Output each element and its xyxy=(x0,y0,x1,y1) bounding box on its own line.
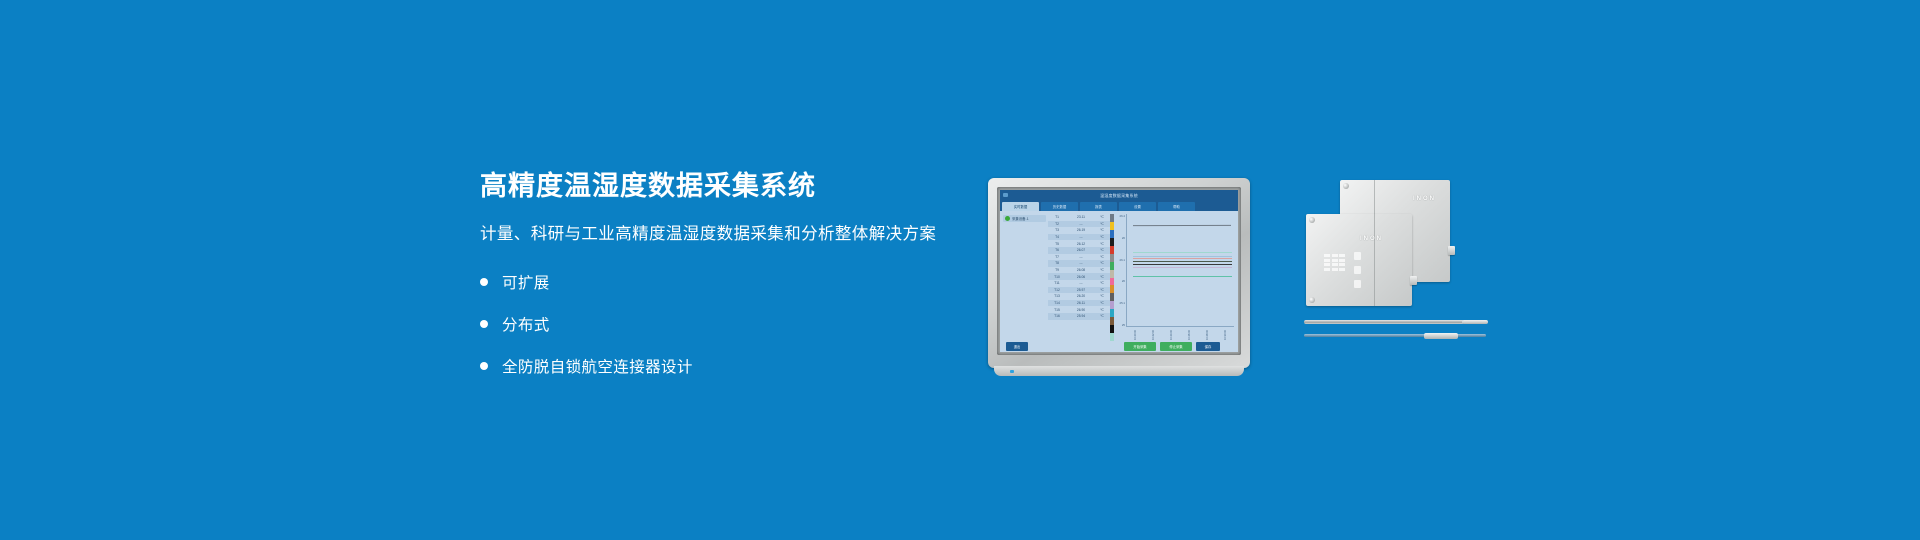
chart-x-axis: 10:20:0010:22:0010:24:0010:26:0010:28:00… xyxy=(1126,327,1234,340)
cell-value: --- xyxy=(1066,235,1096,239)
y-tick-label: 25 xyxy=(1118,323,1125,327)
app-title-bar: 温湿度数据采集系统 xyxy=(1000,190,1238,201)
cell-channel: T6 xyxy=(1048,248,1066,252)
port-icon xyxy=(1354,280,1361,288)
cell-channel: T2 xyxy=(1048,222,1066,226)
probe-tip xyxy=(1462,320,1488,324)
table-row: T3 26.19 ℃ xyxy=(1048,227,1110,234)
table-row: T4 --- ℃ xyxy=(1048,234,1110,241)
temperature-probe-metal xyxy=(1304,320,1464,324)
cell-unit: ℃ xyxy=(1096,275,1108,279)
power-led-icon xyxy=(1010,370,1014,373)
page-title: 高精度温湿度数据采集系统 xyxy=(480,172,950,202)
cell-unit: ℃ xyxy=(1096,215,1108,219)
bullet-dot-icon xyxy=(480,278,488,286)
table-row: T14 26.11 ℃ xyxy=(1048,300,1110,307)
port-icon xyxy=(1354,252,1361,260)
x-tick-label: 10:20:00 xyxy=(1134,327,1137,340)
cell-unit: ℃ xyxy=(1096,261,1108,265)
app-window-title: 温湿度数据采集系统 xyxy=(1100,193,1138,199)
y-tick-label: 26.1 xyxy=(1118,258,1125,262)
cell-channel: T8 xyxy=(1048,261,1066,265)
table-row: T10 26.06 ℃ xyxy=(1048,273,1110,280)
chart-series-line xyxy=(1133,225,1231,226)
table-row: T11 --- ℃ xyxy=(1048,280,1110,287)
cell-unit: ℃ xyxy=(1096,294,1108,298)
feature-list: 可扩展 分布式 全防脱自锁航空连接器设计 xyxy=(480,271,950,377)
cell-value: 25.97 xyxy=(1066,288,1096,292)
bullet-dot-icon xyxy=(480,320,488,328)
chart-plot-area xyxy=(1126,214,1234,327)
brand-logo: INON xyxy=(1413,196,1436,202)
y-tick-label: 26 xyxy=(1118,236,1125,240)
chart-series-line xyxy=(1133,264,1231,265)
stop-capture-button[interactable]: 停止采集 xyxy=(1160,342,1192,351)
cell-unit: ℃ xyxy=(1096,222,1108,226)
cell-channel: T11 xyxy=(1048,281,1066,285)
cell-value: 26.90 xyxy=(1066,308,1096,312)
table-row: T8 --- ℃ xyxy=(1048,260,1110,267)
cell-unit: ℃ xyxy=(1096,255,1108,259)
hero-copy: 高精度温湿度数据采集系统 计量、科研与工业高精度温湿度数据采集和分析整体解决方案… xyxy=(480,172,950,397)
software-screen: 温湿度数据采集系统 实时数据 历史数据 报表 设置 帮助 采集设备-1 xyxy=(1000,190,1238,352)
cell-channel: T9 xyxy=(1048,268,1066,272)
probe-connector xyxy=(1424,333,1458,339)
cell-unit: ℃ xyxy=(1096,228,1108,232)
table-row: T1 23.11 ℃ xyxy=(1048,214,1110,221)
x-tick-label: 10:30:00 xyxy=(1224,327,1227,340)
table-row: T6 26.07 ℃ xyxy=(1048,247,1110,254)
cell-channel: T3 xyxy=(1048,228,1066,232)
start-capture-button[interactable]: 开始采集 xyxy=(1124,342,1156,351)
y-tick-label: 26 xyxy=(1118,279,1125,283)
cell-unit: ℃ xyxy=(1096,288,1108,292)
brand-logo: INON xyxy=(1360,236,1383,242)
y-tick-label: 25.1 xyxy=(1118,301,1125,305)
port-icon xyxy=(1354,266,1361,274)
chart-y-axis: 26.42626.12625.125 xyxy=(1118,214,1125,327)
panel-seam xyxy=(1374,214,1375,306)
table-row: T5 26.12 ℃ xyxy=(1048,240,1110,247)
cell-value: 26.12 xyxy=(1066,242,1096,246)
cell-value: 26.20 xyxy=(1066,294,1096,298)
cell-value: 26.08 xyxy=(1066,268,1096,272)
aviation-connector xyxy=(1448,246,1455,255)
cell-channel: T7 xyxy=(1048,255,1066,259)
cell-unit: ℃ xyxy=(1096,248,1108,252)
app-footer: 退出 开始采集 停止采集 保存 xyxy=(1000,341,1238,352)
feature-label: 分布式 xyxy=(502,313,550,335)
temperature-probe-cable xyxy=(1304,334,1486,337)
x-tick-label: 10:28:00 xyxy=(1206,327,1209,340)
list-item: 分布式 xyxy=(480,313,950,335)
cell-channel: T10 xyxy=(1048,275,1066,279)
table-row: T9 26.08 ℃ xyxy=(1048,267,1110,274)
feature-label: 全防脱自锁航空连接器设计 xyxy=(502,355,693,377)
terminal-label-grid xyxy=(1324,254,1345,271)
cell-unit: ℃ xyxy=(1096,281,1108,285)
cell-value: --- xyxy=(1066,222,1096,226)
cell-value: 26.07 xyxy=(1066,248,1096,252)
save-button[interactable]: 保存 xyxy=(1196,342,1220,351)
monitor-stand xyxy=(994,366,1244,376)
device-tree-panel: 采集设备-1 xyxy=(1000,211,1048,341)
screw-icon xyxy=(1309,217,1315,223)
chart-series-line xyxy=(1133,261,1231,262)
x-tick-label: 10:22:00 xyxy=(1152,327,1155,340)
tab-help[interactable]: 帮助 xyxy=(1158,202,1195,211)
trend-chart: 26.42626.12625.125 10:20:0010:22:0010:24… xyxy=(1114,211,1238,341)
tab-history[interactable]: 历史数据 xyxy=(1041,202,1078,211)
x-tick-label: 10:26:00 xyxy=(1188,327,1191,340)
hero-banner: 高精度温湿度数据采集系统 计量、科研与工业高精度温湿度数据采集和分析整体解决方案… xyxy=(0,0,1920,540)
list-item: 全防脱自锁航空连接器设计 xyxy=(480,355,950,377)
cell-unit: ℃ xyxy=(1096,235,1108,239)
cell-value: 23.11 xyxy=(1066,215,1096,219)
screw-icon xyxy=(1343,183,1349,189)
app-body: 采集设备-1 T1 23.11 ℃ T2 --- ℃ xyxy=(1000,211,1238,341)
monitor-product-image: 温湿度数据采集系统 实时数据 历史数据 报表 设置 帮助 采集设备-1 xyxy=(988,178,1250,368)
chart-series-line xyxy=(1133,252,1231,253)
tree-item-label: 采集设备-1 xyxy=(1012,216,1029,221)
cell-channel: T15 xyxy=(1048,308,1066,312)
tab-realtime[interactable]: 实时数据 xyxy=(1002,202,1039,211)
cell-channel: T14 xyxy=(1048,301,1066,305)
x-tick-label: 10:24:00 xyxy=(1170,327,1173,340)
cell-value: 26.06 xyxy=(1066,275,1096,279)
cell-value: --- xyxy=(1066,255,1096,259)
cell-value: --- xyxy=(1066,261,1096,265)
cell-channel: T13 xyxy=(1048,294,1066,298)
chart-series-line xyxy=(1133,258,1231,259)
aviation-connector xyxy=(1410,276,1417,285)
module-enclosure-front: INON xyxy=(1306,214,1412,306)
cell-unit: ℃ xyxy=(1096,301,1108,305)
cell-channel: T5 xyxy=(1048,242,1066,246)
feature-label: 可扩展 xyxy=(502,271,550,293)
table-row: T7 --- ℃ xyxy=(1048,254,1110,261)
cell-channel: T4 xyxy=(1048,235,1066,239)
channel-table: T1 23.11 ℃ T2 --- ℃ T3 26.19 ℃ xyxy=(1048,211,1110,341)
monitor-screen-frame: 温湿度数据采集系统 实时数据 历史数据 报表 设置 帮助 采集设备-1 xyxy=(997,187,1241,355)
chart-series-line xyxy=(1133,256,1231,257)
app-tab-bar: 实时数据 历史数据 报表 设置 帮助 xyxy=(1000,201,1238,211)
exit-button[interactable]: 退出 xyxy=(1006,342,1028,351)
cell-value: --- xyxy=(1066,281,1096,285)
table-row: T12 25.97 ℃ xyxy=(1048,287,1110,294)
chart-series-line xyxy=(1133,276,1231,277)
tab-report[interactable]: 报表 xyxy=(1080,202,1117,211)
tab-settings[interactable]: 设置 xyxy=(1119,202,1156,211)
table-row: T2 --- ℃ xyxy=(1048,221,1110,228)
window-menu-icon xyxy=(1003,193,1008,197)
cell-unit: ℃ xyxy=(1096,308,1108,312)
table-row: T16 25.94 ℃ xyxy=(1048,313,1110,320)
cell-value: 25.94 xyxy=(1066,314,1096,318)
cell-channel: T12 xyxy=(1048,288,1066,292)
cell-value: 26.19 xyxy=(1066,228,1096,232)
list-item: 可扩展 xyxy=(480,271,950,293)
cell-value: 26.11 xyxy=(1066,301,1096,305)
status-online-icon xyxy=(1005,216,1010,221)
page-subtitle: 计量、科研与工业高精度温湿度数据采集和分析整体解决方案 xyxy=(480,224,950,245)
cell-unit: ℃ xyxy=(1096,242,1108,246)
cell-unit: ℃ xyxy=(1096,268,1108,272)
table-row: T13 26.20 ℃ xyxy=(1048,293,1110,300)
screw-icon xyxy=(1309,297,1315,303)
y-tick-label: 26.4 xyxy=(1118,214,1125,218)
table-row: T15 26.90 ℃ xyxy=(1048,306,1110,313)
bullet-dot-icon xyxy=(480,362,488,370)
chart-series-line xyxy=(1133,267,1231,268)
cell-unit: ℃ xyxy=(1096,314,1108,318)
cell-channel: T1 xyxy=(1048,215,1066,219)
tree-item-device[interactable]: 采集设备-1 xyxy=(1003,215,1046,222)
cell-channel: T16 xyxy=(1048,314,1066,318)
hardware-modules: INON INON xyxy=(1302,172,1492,352)
